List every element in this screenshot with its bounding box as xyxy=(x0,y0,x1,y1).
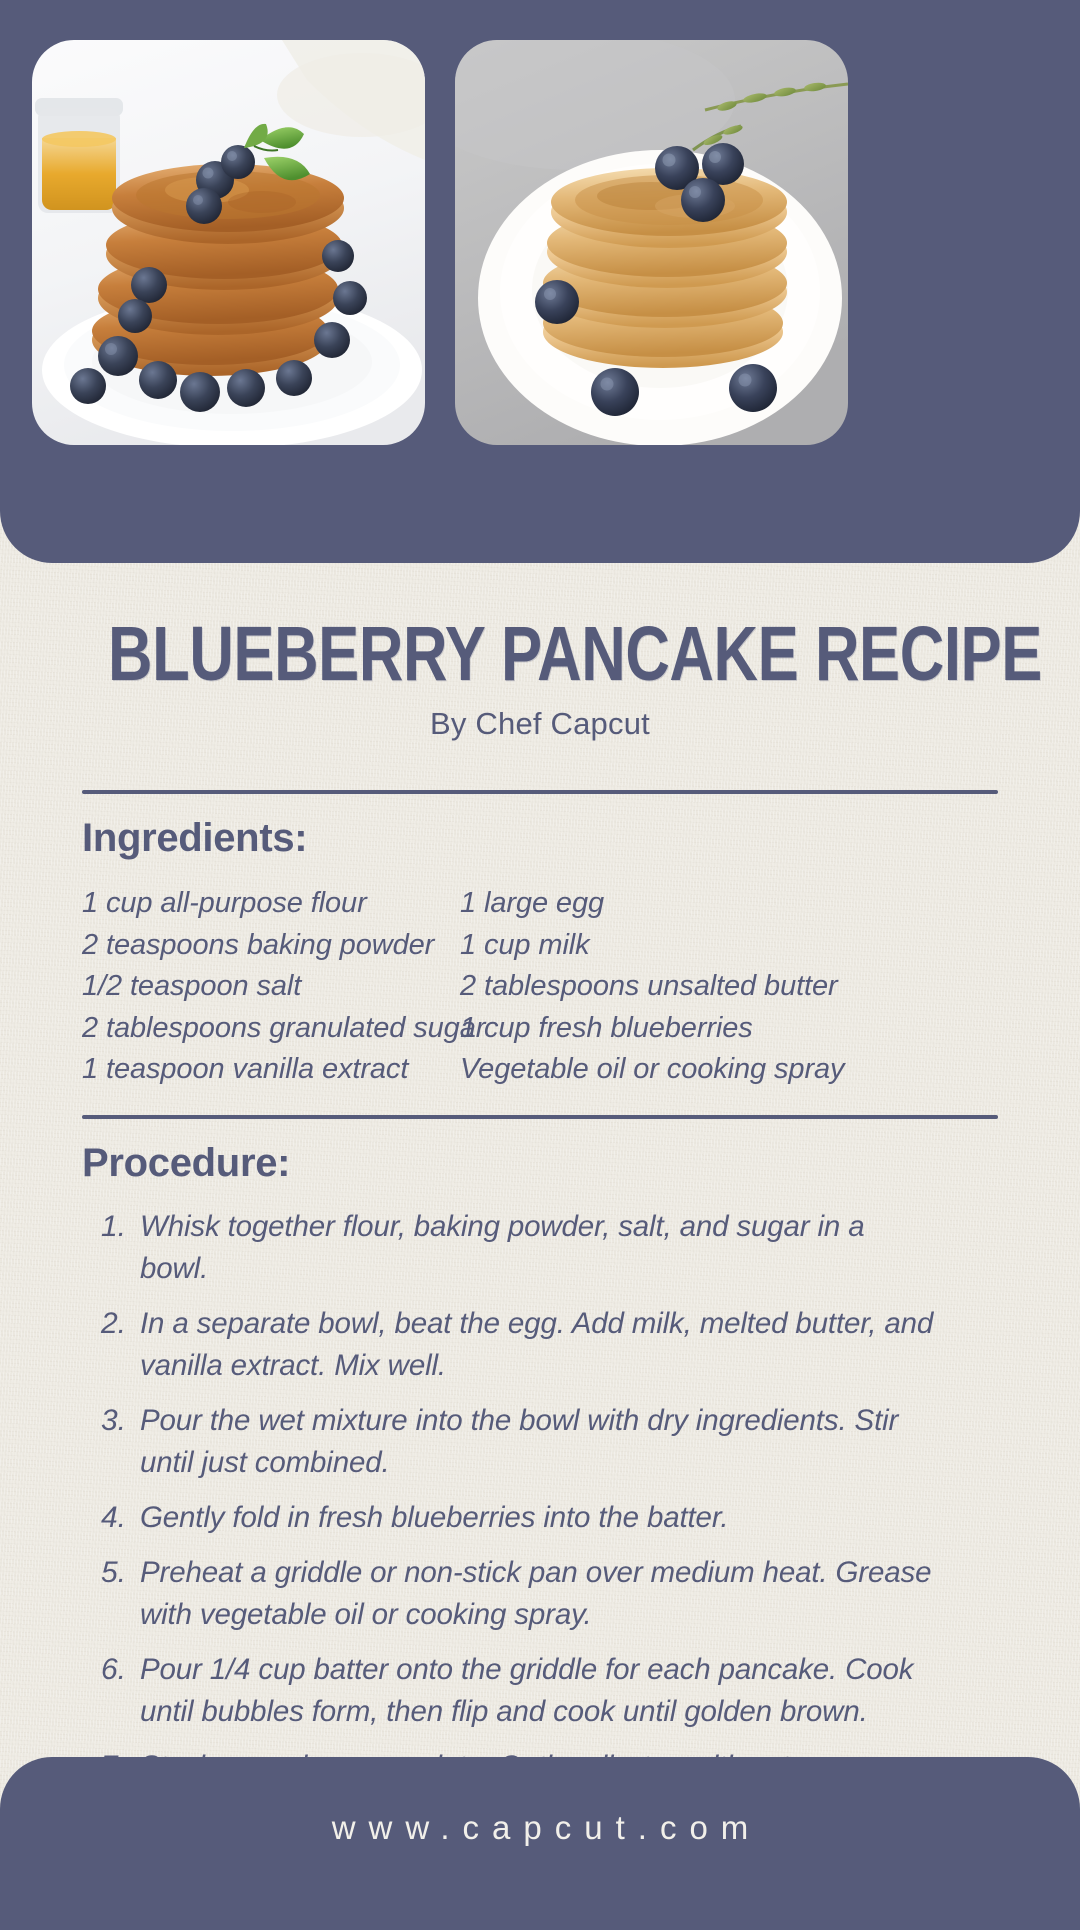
procedure-step: 5. Preheat a griddle or non-stick pan ov… xyxy=(0,1552,1080,1636)
procedure-heading: Procedure: xyxy=(0,1119,1080,1186)
procedure-step: 1. Whisk together flour, baking powder, … xyxy=(0,1206,1080,1290)
step-number: 6. xyxy=(84,1649,140,1691)
ingredient-item: 1 teaspoon vanilla extract xyxy=(82,1049,460,1091)
ingredient-item: 1 cup fresh blueberries xyxy=(460,1008,1080,1050)
step-number: 5. xyxy=(84,1552,140,1594)
step-number: 2. xyxy=(84,1303,140,1345)
procedure-step: 6. Pour 1/4 cup batter onto the griddle … xyxy=(0,1649,1080,1733)
step-text: In a separate bowl, beat the egg. Add mi… xyxy=(140,1303,940,1387)
procedure-steps: 1. Whisk together flour, baking powder, … xyxy=(0,1186,1080,1830)
ingredient-item: 1 cup all-purpose flour xyxy=(82,883,460,925)
website-url[interactable]: www.capcut.com xyxy=(319,1809,762,1847)
header-photo-row xyxy=(0,0,1080,563)
ingredients-heading: Ingredients: xyxy=(0,794,1080,861)
step-number: 3. xyxy=(84,1400,140,1442)
step-text: Pour the wet mixture into the bowl with … xyxy=(140,1400,940,1484)
ingredient-item: 2 teaspoons baking powder xyxy=(82,925,460,967)
ingredient-item: 1/2 teaspoon salt xyxy=(82,966,460,1008)
procedure-step: 4. Gently fold in fresh blueberries into… xyxy=(0,1497,1080,1539)
procedure-step: 3. Pour the wet mixture into the bowl wi… xyxy=(0,1400,1080,1484)
recipe-author: By Chef Capcut xyxy=(0,690,1080,742)
recipe-content: BLUEBERRY PANCAKE RECIPE By Chef Capcut … xyxy=(0,563,1080,1843)
ingredient-item: 2 tablespoons unsalted butter xyxy=(460,966,1080,1008)
step-number: 4. xyxy=(84,1497,140,1539)
ingredient-item: 1 cup milk xyxy=(460,925,1080,967)
step-text: Gently fold in fresh blueberries into th… xyxy=(140,1497,728,1539)
pancake-stack-with-honey-photo xyxy=(32,40,425,445)
ingredient-item: 2 tablespoons granulated sugar xyxy=(82,1008,460,1050)
step-number: 1. xyxy=(84,1206,140,1248)
procedure-step: 2. In a separate bowl, beat the egg. Add… xyxy=(0,1303,1080,1387)
step-text: Preheat a griddle or non-stick pan over … xyxy=(140,1552,940,1636)
footer-band: www.capcut.com xyxy=(0,1757,1080,1930)
ingredient-item: 1 large egg xyxy=(460,883,1080,925)
page-title: BLUEBERRY PANCAKE RECIPE xyxy=(108,563,972,690)
ingredients-list: 1 cup all-purpose flour 1 large egg 2 te… xyxy=(0,861,1080,1091)
step-text: Pour 1/4 cup batter onto the griddle for… xyxy=(140,1649,940,1733)
step-text: Whisk together flour, baking powder, sal… xyxy=(140,1206,940,1290)
pancake-stack-on-plate-photo xyxy=(455,40,848,445)
ingredient-item: Vegetable oil or cooking spray xyxy=(460,1049,1080,1091)
